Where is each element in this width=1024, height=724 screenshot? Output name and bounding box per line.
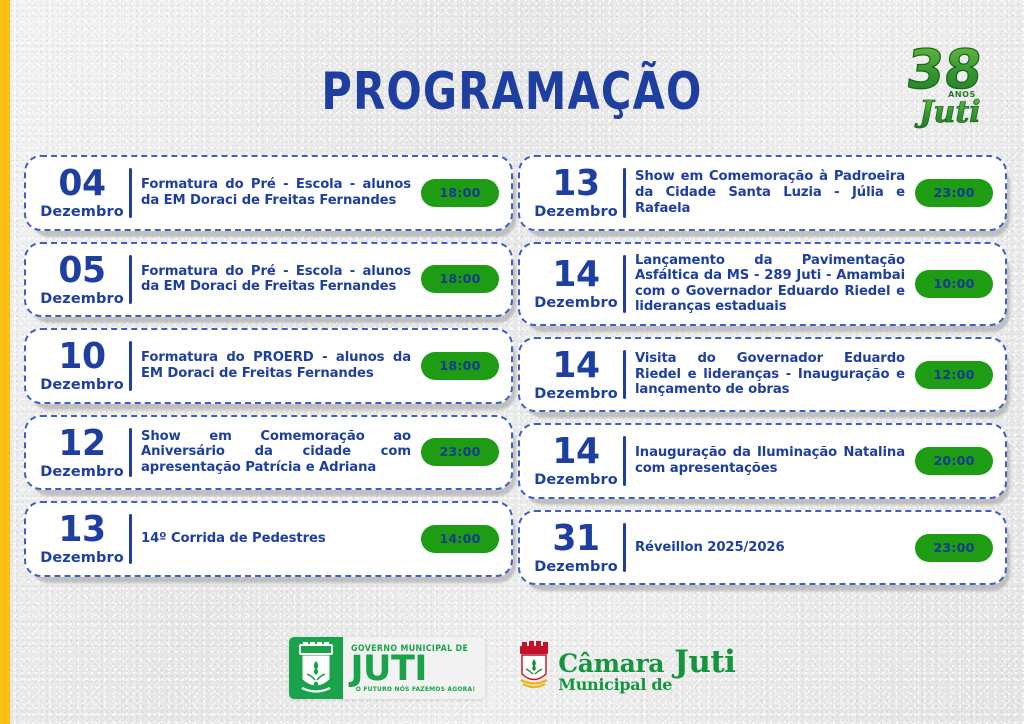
camara-logo-text: Câmara Municipal de Juti <box>558 644 735 693</box>
schedule-card[interactable]: 05 Dezembro Formatura do Pré - Escola - … <box>24 242 513 318</box>
event-time-badge: 18:00 <box>421 352 499 380</box>
camara-coat-of-arms-icon <box>517 640 551 697</box>
event-date: 05 Dezembro <box>36 253 128 307</box>
schedule-column-right: 13 Dezembro Show em Comemoração à Padroe… <box>518 155 1007 596</box>
left-yellow-edge-bar <box>0 0 10 724</box>
event-time-badge: 10:00 <box>915 270 993 298</box>
event-time-badge: 18:00 <box>421 265 499 293</box>
anniversary-38-anos-juti-logo: 38 ANOS Juti <box>902 34 998 130</box>
card-divider <box>623 436 626 486</box>
card-divider <box>129 341 132 391</box>
card-divider <box>129 255 132 305</box>
camara-logo-line1: Câmara <box>558 651 672 676</box>
event-day: 14 <box>532 348 620 384</box>
card-divider <box>129 168 132 218</box>
event-day: 04 <box>38 166 126 202</box>
event-month: Dezembro <box>530 296 622 311</box>
schedule-card[interactable]: 14 Dezembro Lançamento da Pavimentação A… <box>518 242 1007 326</box>
schedule-column-left: 04 Dezembro Formatura do Pré - Escola - … <box>24 155 513 588</box>
event-time-badge: 23:00 <box>915 534 993 562</box>
schedule-card[interactable]: 14 Dezembro Inauguração da Iluminação Na… <box>518 423 1007 499</box>
camara-logo-city: Juti <box>674 644 735 680</box>
event-month: Dezembro <box>530 205 622 220</box>
event-date: 13 Dezembro <box>530 166 622 220</box>
footer-logos: GOVERNO MUNICIPAL DE JUTI O FUTURO NÓS F… <box>0 637 1024 699</box>
card-body[interactable]: 31 Dezembro Réveillon 2025/2026 23:00 <box>518 510 1007 586</box>
event-description: Show em Comemoração à Padroeira da Cidad… <box>635 169 915 216</box>
event-description: Formatura do PROERD - alunos da EM Dorac… <box>141 350 421 381</box>
camara-municipal-juti-logo: Câmara Municipal de Juti <box>517 639 735 697</box>
gov-logo-tagline: O FUTURO NÓS FAZEMOS AGORA! <box>351 687 476 693</box>
schedule-card[interactable]: 04 Dezembro Formatura do Pré - Escola - … <box>24 155 513 231</box>
schedule-card[interactable]: 13 Dezembro 14º Corrida de Pedestres 14:… <box>24 501 513 577</box>
juti-coat-of-arms-icon <box>289 637 343 699</box>
camara-logo-line2: Municipal de <box>558 677 672 693</box>
event-date: 14 Dezembro <box>530 257 622 311</box>
event-time-badge: 18:00 <box>421 179 499 207</box>
card-body[interactable]: 10 Dezembro Formatura do PROERD - alunos… <box>24 328 513 404</box>
event-date: 13 Dezembro <box>36 512 128 566</box>
event-day: 13 <box>532 166 620 202</box>
svg-text:Juti: Juti <box>914 95 980 130</box>
event-month: Dezembro <box>36 205 128 220</box>
event-date: 12 Dezembro <box>36 426 128 480</box>
card-divider <box>623 255 626 313</box>
event-day: 05 <box>38 253 126 289</box>
schedule-card[interactable]: 14 Dezembro Visita do Governador Eduardo… <box>518 337 1007 413</box>
event-description: Visita do Governador Eduardo Riedel e li… <box>635 351 915 398</box>
card-body[interactable]: 14 Dezembro Lançamento da Pavimentação A… <box>518 242 1007 326</box>
card-divider <box>623 523 626 573</box>
event-day: 13 <box>38 512 126 548</box>
event-time-badge: 12:00 <box>915 361 993 389</box>
gov-logo-wordmark: JUTI <box>351 653 476 686</box>
event-month: Dezembro <box>36 551 128 566</box>
event-day: 31 <box>532 521 620 557</box>
schedule-card[interactable]: 12 Dezembro Show em Comemoração ao Anive… <box>24 415 513 491</box>
gov-logo-text: GOVERNO MUNICIPAL DE JUTI O FUTURO NÓS F… <box>343 637 486 699</box>
event-time-badge: 20:00 <box>915 447 993 475</box>
camara-logo-lines: Câmara Municipal de <box>558 651 672 693</box>
event-time-badge: 23:00 <box>421 438 499 466</box>
card-body[interactable]: 13 Dezembro Show em Comemoração à Padroe… <box>518 155 1007 231</box>
poster-canvas: PROGRAMAÇÃO 38 ANOS Juti 04 Dezembro <box>0 0 1024 724</box>
event-time-badge: 23:00 <box>915 179 993 207</box>
schedule-card[interactable]: 13 Dezembro Show em Comemoração à Padroe… <box>518 155 1007 231</box>
event-month: Dezembro <box>530 473 622 488</box>
event-description: Formatura do Pré - Escola - alunos da EM… <box>141 264 421 295</box>
event-date: 10 Dezembro <box>36 339 128 393</box>
gov-logo-top-line: GOVERNO MUNICIPAL DE <box>351 644 468 652</box>
schedule-card[interactable]: 10 Dezembro Formatura do PROERD - alunos… <box>24 328 513 404</box>
event-date: 14 Dezembro <box>530 348 622 402</box>
event-description: Réveillon 2025/2026 <box>635 540 915 556</box>
event-time-badge: 14:00 <box>421 525 499 553</box>
card-divider <box>623 350 626 400</box>
event-day: 14 <box>532 434 620 470</box>
event-description: Show em Comemoração ao Aniversário da ci… <box>141 429 421 476</box>
event-month: Dezembro <box>36 465 128 480</box>
card-divider <box>623 168 626 218</box>
event-month: Dezembro <box>36 378 128 393</box>
governo-municipal-juti-logo: GOVERNO MUNICIPAL DE JUTI O FUTURO NÓS F… <box>289 637 486 699</box>
card-body[interactable]: 12 Dezembro Show em Comemoração ao Anive… <box>24 415 513 491</box>
event-date: 31 Dezembro <box>530 521 622 575</box>
event-month: Dezembro <box>530 560 622 575</box>
card-body[interactable]: 13 Dezembro 14º Corrida de Pedestres 14:… <box>24 501 513 577</box>
event-date: 14 Dezembro <box>530 434 622 488</box>
event-description: Lançamento da Pavimentação Asfáltica da … <box>635 253 915 315</box>
event-day: 12 <box>38 426 126 462</box>
event-date: 04 Dezembro <box>36 166 128 220</box>
card-divider <box>129 514 132 564</box>
event-description: Inauguração da Iluminação Natalina com a… <box>635 445 915 476</box>
event-day: 14 <box>532 257 620 293</box>
event-description: Formatura do Pré - Escola - alunos da EM… <box>141 177 421 208</box>
event-month: Dezembro <box>530 387 622 402</box>
card-body[interactable]: 04 Dezembro Formatura do Pré - Escola - … <box>24 155 513 231</box>
card-body[interactable]: 14 Dezembro Visita do Governador Eduardo… <box>518 337 1007 413</box>
event-description: 14º Corrida de Pedestres <box>141 531 421 547</box>
event-month: Dezembro <box>36 292 128 307</box>
card-body[interactable]: 14 Dezembro Inauguração da Iluminação Na… <box>518 423 1007 499</box>
event-day: 10 <box>38 339 126 375</box>
page-title: PROGRAMAÇÃO <box>102 66 921 118</box>
card-body[interactable]: 05 Dezembro Formatura do Pré - Escola - … <box>24 242 513 318</box>
schedule-card[interactable]: 31 Dezembro Réveillon 2025/2026 23:00 <box>518 510 1007 586</box>
card-divider <box>129 428 132 478</box>
